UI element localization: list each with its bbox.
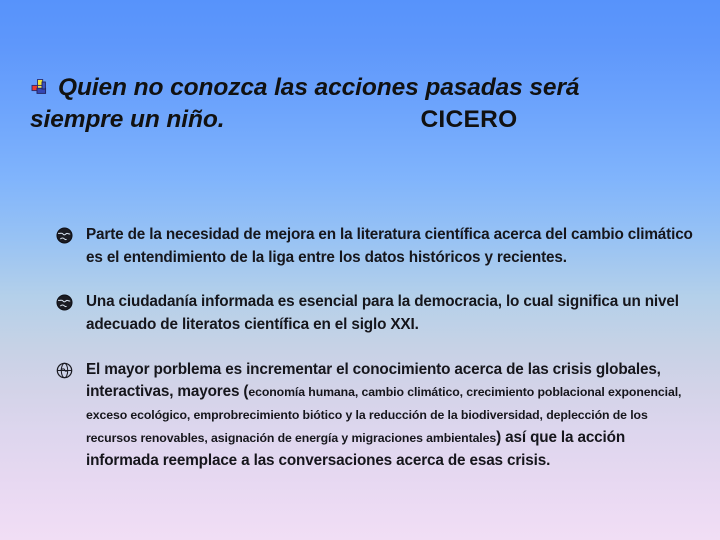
list-item: Parte de la necesidad de mejora en la li… <box>56 224 696 269</box>
globe-filled-icon <box>56 294 73 311</box>
title-text-line-2: siempre un niño. <box>30 106 224 133</box>
list-item: El mayor porblema es incrementar el cono… <box>56 359 696 474</box>
globe-outline-icon <box>56 362 73 379</box>
list-item-text: Parte de la necesidad de mejora en la li… <box>86 226 693 266</box>
title-text-line-1: Quien no conozca las acciones pasadas se… <box>58 74 579 101</box>
list-item: Una ciudadanía informada es esencial par… <box>56 291 696 336</box>
title-attribution: CICERO <box>420 106 517 133</box>
title-line-2: siempre un niño.CICERO <box>30 104 690 136</box>
list-item-text: El mayor porblema es incrementar el cono… <box>86 361 681 470</box>
title-block: Quien no conozca las acciones pasadas se… <box>30 72 690 137</box>
title-line-1: Quien no conozca las acciones pasadas se… <box>30 72 690 104</box>
colored-pinwheel-bullet-icon <box>30 75 50 95</box>
slide-canvas: Quien no conozca las acciones pasadas se… <box>0 0 720 540</box>
list-item-text: Una ciudadanía informada es esencial par… <box>86 293 679 333</box>
body-bullets-list: Parte de la necesidad de mejora en la li… <box>56 224 696 473</box>
globe-filled-icon <box>56 227 73 244</box>
